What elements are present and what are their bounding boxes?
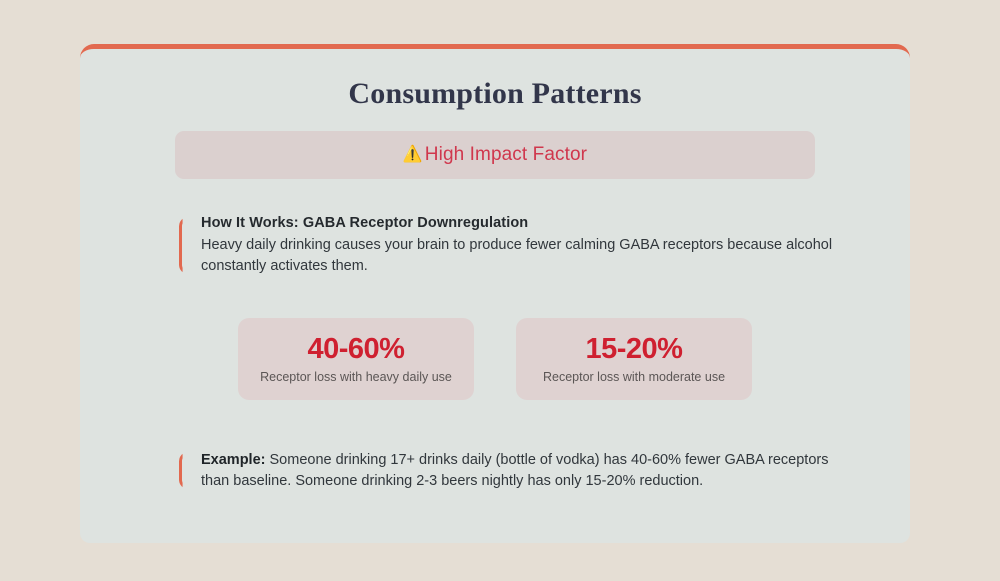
high-impact-badge: ⚠️ High Impact Factor bbox=[175, 131, 815, 179]
stat-card-heavy-use: 40-60% Receptor loss with heavy daily us… bbox=[238, 318, 474, 400]
accent-bar-icon bbox=[179, 452, 188, 489]
accent-bar-icon bbox=[179, 217, 188, 274]
stats-row: 40-60% Receptor loss with heavy daily us… bbox=[80, 318, 910, 400]
consumption-patterns-card: Consumption Patterns ⚠️ High Impact Fact… bbox=[80, 44, 910, 543]
example-text: Example: Someone drinking 17+ drinks dai… bbox=[201, 450, 830, 491]
how-it-works-block: How It Works: GABA Receptor Downregulati… bbox=[179, 215, 850, 276]
example-block: Example: Someone drinking 17+ drinks dai… bbox=[179, 450, 830, 491]
page-title: Consumption Patterns bbox=[80, 49, 910, 111]
impact-badge-row: ⚠️ High Impact Factor bbox=[80, 131, 910, 179]
example-body: Someone drinking 17+ drinks daily (bottl… bbox=[201, 452, 828, 489]
stat-value: 40-60% bbox=[308, 335, 405, 364]
how-it-works-body: Heavy daily drinking causes your brain t… bbox=[201, 235, 850, 276]
example-label: Example: bbox=[201, 452, 265, 468]
stat-value: 15-20% bbox=[586, 335, 683, 364]
how-it-works-heading: How It Works: GABA Receptor Downregulati… bbox=[201, 215, 850, 231]
stat-label: Receptor loss with moderate use bbox=[543, 371, 725, 384]
badge-label: High Impact Factor bbox=[425, 144, 587, 166]
page-root: Consumption Patterns ⚠️ High Impact Fact… bbox=[0, 0, 1000, 581]
stat-label: Receptor loss with heavy daily use bbox=[260, 371, 452, 384]
warning-icon: ⚠️ bbox=[403, 147, 423, 163]
stat-card-moderate-use: 15-20% Receptor loss with moderate use bbox=[516, 318, 752, 400]
